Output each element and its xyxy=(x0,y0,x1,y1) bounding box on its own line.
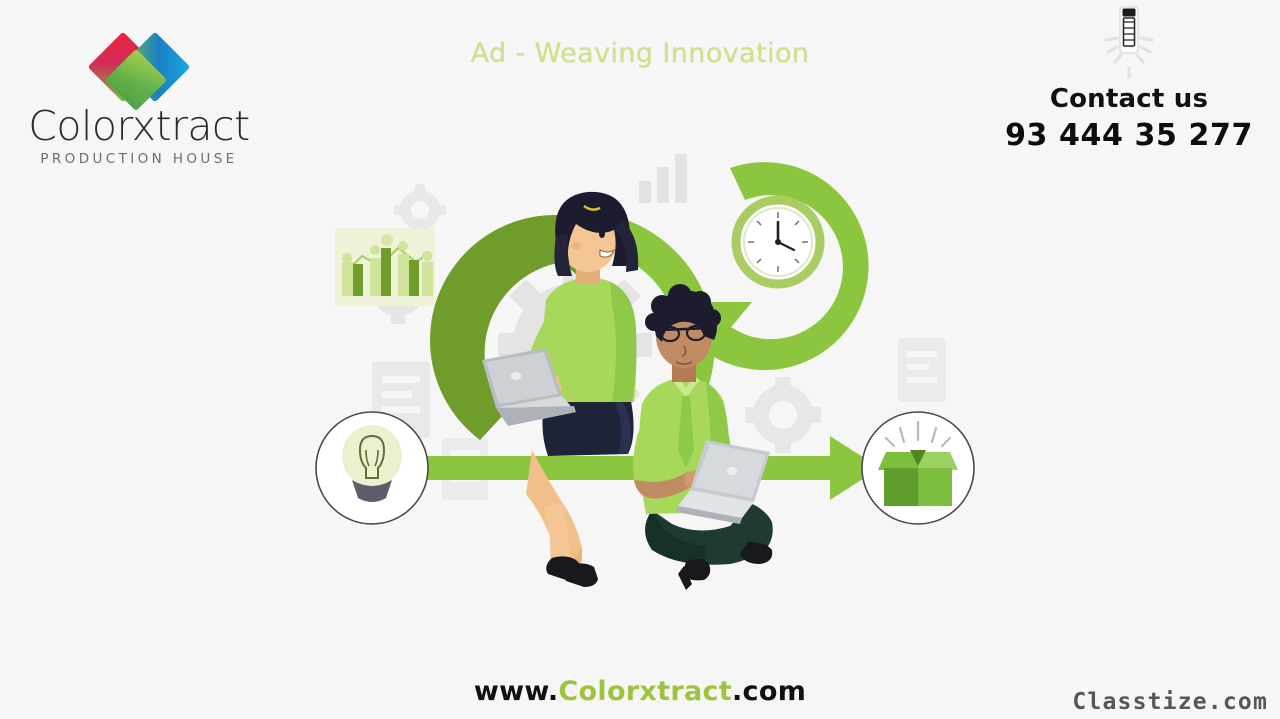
watermark: Classtize.com xyxy=(1072,689,1268,715)
url-brand: Colorxtract xyxy=(558,676,732,707)
document-icon xyxy=(898,338,946,402)
url-suffix: .com xyxy=(732,676,806,707)
business-process-cycle-illustration xyxy=(300,150,990,610)
logo-wordmark: Colorxtract xyxy=(14,106,264,148)
man-with-laptop xyxy=(633,284,773,590)
idea-node xyxy=(316,412,428,524)
delivery-node xyxy=(862,412,974,524)
wall-clock-icon xyxy=(732,196,824,288)
bar-chart-icon xyxy=(335,228,435,306)
contact-block: Contact us 93 444 35 277 xyxy=(994,4,1264,153)
contact-label: Contact us xyxy=(994,84,1264,114)
ringing-mobile-phone-icon xyxy=(994,4,1264,82)
logo-tagline: PRODUCTION HOUSE xyxy=(14,151,264,167)
gear-icon xyxy=(745,377,821,453)
url-prefix: www. xyxy=(474,676,559,707)
contact-phone-number: 93 444 35 277 xyxy=(994,118,1264,153)
bar-chart-icon xyxy=(639,154,687,203)
